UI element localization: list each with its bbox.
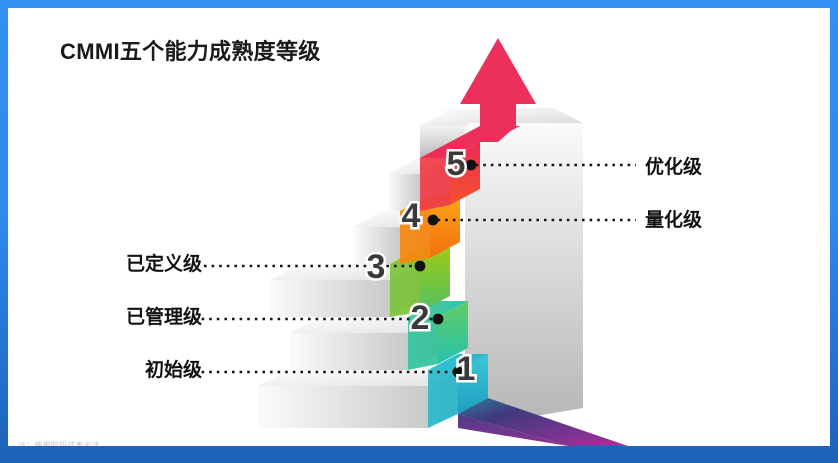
- leader-dot-3: [415, 261, 426, 272]
- step-number-3: 3: [367, 248, 386, 286]
- leader-dot-5: [466, 160, 477, 171]
- slide-canvas: CMMI五个能力成熟度等级: [8, 8, 830, 446]
- leader-dot-2: [433, 314, 444, 325]
- step-number-1: 1: [457, 350, 476, 388]
- step-label-defined: 已定义级: [92, 249, 202, 276]
- step-label-managed: 已管理级: [92, 302, 202, 329]
- step-label-optimizing: 优化级: [645, 152, 702, 179]
- step-number-2: 2: [411, 299, 430, 337]
- slide-frame: CMMI五个能力成熟度等级: [0, 0, 838, 463]
- step-number-4: 4: [402, 197, 421, 235]
- step-label-quantitative: 量化级: [645, 205, 702, 232]
- leader-dot-4: [428, 215, 439, 226]
- step-number-5: 5: [447, 145, 466, 183]
- footnote: 注：使用阶段式表示法。: [18, 440, 108, 446]
- step-label-initial: 初始级: [92, 355, 202, 382]
